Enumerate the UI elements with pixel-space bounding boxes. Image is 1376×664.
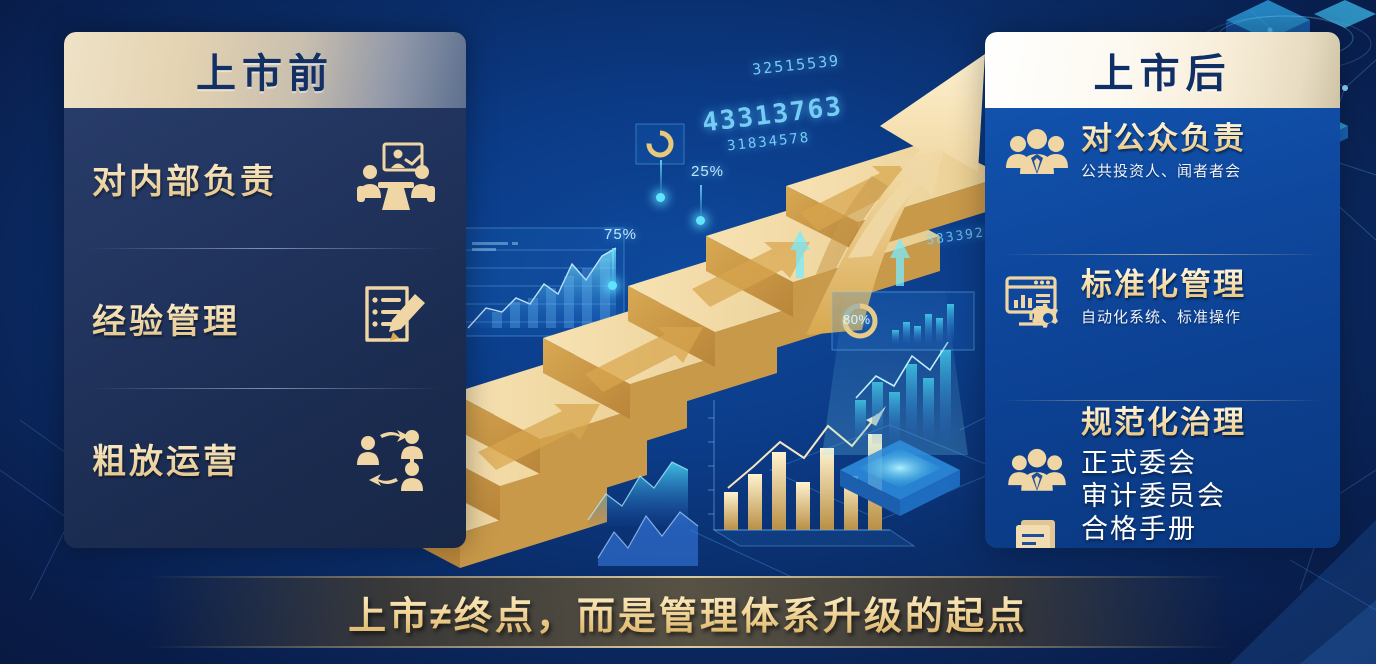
percent-pin-extra <box>660 160 662 196</box>
left-item-1[interactable]: 经验管理 <box>64 248 466 388</box>
right-item-2-body: 规范化治理 正式委会 审计委员会 合格手册 <box>1077 406 1326 546</box>
right-item-2-icons <box>997 406 1077 548</box>
left-panel-before-ipo: 上市前 对内部负责 <box>64 32 466 548</box>
meeting-presentation-icon <box>350 138 442 218</box>
right-item-2-line-2: 合格手册 <box>1081 513 1326 546</box>
right-item-0[interactable]: 对公众负责 公共投资人、闻者者会 <box>985 108 1340 254</box>
left-item-0-label: 对内部负责 <box>92 154 350 203</box>
bottom-banner: 上市≠终点，而是管理体系升级的起点 <box>148 576 1228 648</box>
percent-label-75: 75% <box>604 226 637 243</box>
bottom-banner-text: 上市≠终点，而是管理体系升级的起点 <box>348 585 1028 640</box>
notepad-pencil-icon <box>350 278 442 358</box>
left-item-0[interactable]: 对内部负责 <box>64 108 466 248</box>
right-panel-header-text: 上市后 <box>1094 41 1232 99</box>
percent-pin-25 <box>700 185 702 219</box>
percent-pin-75 <box>612 248 614 284</box>
left-item-1-label: 经验管理 <box>92 294 350 343</box>
right-item-2-line-1: 审计委员会 <box>1081 480 1326 513</box>
right-panel-header: 上市后 <box>985 32 1340 108</box>
infographic-canvas: 32515539 43313763 31834578 38339259 75% … <box>0 0 1376 664</box>
document-stack-icon <box>1011 516 1063 548</box>
right-panel-after-ipo: 上市后 对公众负责 公共投资人、闻者者会 <box>985 32 1340 548</box>
right-item-0-body: 对公众负责 公共投资人、闻者者会 <box>1077 122 1326 181</box>
right-item-1-title: 标准化管理 <box>1081 268 1326 303</box>
right-item-0-subtitle: 公共投资人、闻者者会 <box>1081 160 1326 181</box>
right-item-2-title: 规范化治理 <box>1081 406 1326 441</box>
hologram-donut-center-label: 80% <box>843 312 871 327</box>
percent-pin-head-75 <box>608 281 617 290</box>
right-item-2-line-0: 正式委会 <box>1081 447 1326 480</box>
right-item-1[interactable]: 标准化管理 自动化系统、标准操作 <box>985 254 1340 400</box>
hologram-area-chart-panel <box>452 228 624 336</box>
left-panel-header-text: 上市前 <box>196 41 334 99</box>
left-panel-header: 上市前 <box>64 32 466 108</box>
percent-pin-head-extra <box>656 193 665 202</box>
right-item-1-body: 标准化管理 自动化系统、标准操作 <box>1077 268 1326 327</box>
right-item-0-title: 对公众负责 <box>1081 122 1326 157</box>
group-people-icon <box>997 122 1077 184</box>
people-cycle-icon <box>350 418 442 498</box>
right-item-1-subtitle: 自动化系统、标准操作 <box>1081 306 1326 327</box>
left-item-2-label: 粗放运营 <box>92 434 350 483</box>
monitor-chart-gear-icon <box>997 268 1077 334</box>
group-people-icon <box>1006 448 1068 500</box>
percent-label-25: 25% <box>691 163 724 180</box>
left-item-2[interactable]: 粗放运营 <box>64 388 466 528</box>
donut-widget-icon <box>636 124 684 164</box>
right-item-2[interactable]: 规范化治理 正式委会 审计委员会 合格手册 <box>985 400 1340 548</box>
percent-pin-head-25 <box>696 216 705 225</box>
